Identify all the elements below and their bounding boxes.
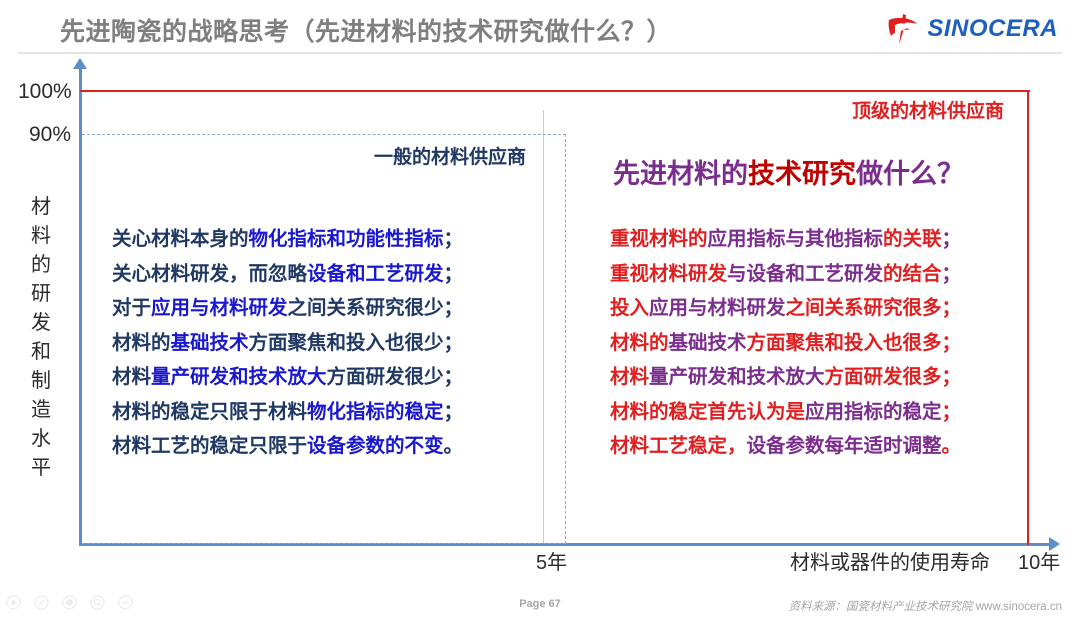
threshold-line-100-percent — [80, 90, 1030, 92]
emphasis-run: 应用指标的稳定 — [805, 401, 942, 423]
top-supplier-text-block: 重视材料的应用指标与其他指标的关联；重视材料研发与设备和工艺研发的结合；投入应用… — [610, 222, 961, 464]
text-run: 材料 — [112, 366, 151, 388]
text-line: 材料的稳定首先认为是应用指标的稳定； — [610, 395, 961, 430]
emphasis-run: 基础技术 — [171, 332, 249, 354]
header-divider — [18, 52, 1062, 54]
headline-run: 先进材料的 — [613, 159, 748, 189]
emphasis-run: 量产研发和技术放大 — [649, 366, 825, 388]
emphasis-run: 应用与材料研发 — [151, 297, 288, 319]
text-line: 材料的基础技术方面聚焦和投入也很多； — [610, 326, 961, 361]
text-run: 投入 — [610, 297, 649, 319]
source-note: 资料来源：国瓷材料产业技术研究院 www.sinocera.cn — [789, 598, 1063, 614]
text-run: 材料的 — [610, 332, 669, 354]
text-run: 材料工艺稳定， — [610, 435, 747, 457]
y-tick-label-100: 100% — [18, 80, 72, 104]
text-run: 方面研发很多； — [825, 366, 962, 388]
emphasis-run: ； — [942, 228, 962, 250]
text-run: 材料的稳定首先认为是 — [610, 401, 805, 423]
emphasis-run: 与设备和工艺研发 — [727, 263, 883, 285]
source-note-text: 资料来源：国瓷材料产业技术研究院 — [789, 601, 973, 613]
x-axis-title: 材料或器件的使用寿命 — [790, 546, 990, 575]
text-run: 重视材料研发 — [610, 263, 727, 285]
text-run: 。 — [942, 435, 962, 457]
x-tick-label-5-years: 5年 — [536, 546, 567, 575]
emphasis-run: 基础技术 — [669, 332, 747, 354]
text-run: 关心材料本身的 — [112, 228, 249, 250]
emphasis-run: 设备和工艺研发 — [307, 263, 444, 285]
text-run: ； — [444, 401, 464, 423]
text-run: 之间关系研究很多； — [786, 297, 962, 319]
top-supplier-label: 顶级的材料供应商 — [852, 96, 1004, 123]
text-run: ； — [444, 263, 464, 285]
text-line: 材料工艺的稳定只限于设备参数的不变。 — [112, 429, 463, 464]
text-line: 材料量产研发和技术放大方面研发很多； — [610, 360, 961, 395]
text-run: 的关联 — [883, 228, 942, 250]
page-title: 先进陶瓷的战略思考（先进材料的技术研究做什么？） — [60, 12, 672, 48]
sinocera-swoosh-logo-icon — [886, 13, 920, 45]
emphasis-run: 应用与材料研发 — [649, 297, 786, 319]
text-run: 材料的 — [112, 332, 171, 354]
text-line: 关心材料研发，而忽略设备和工艺研发； — [112, 257, 463, 292]
text-line: 关心材料本身的物化指标和功能性指标； — [112, 222, 463, 257]
text-run: 关心材料研发，而忽略 — [112, 263, 307, 285]
text-line: 材料的稳定只限于材料物化指标的稳定； — [112, 395, 463, 430]
emphasis-run: 物化指标和功能性指标 — [249, 228, 444, 250]
emphasis-run: 设备参数每年适时调整 — [747, 435, 942, 457]
emphasis-run: 应用指标与其他指标 — [708, 228, 884, 250]
text-line: 重视材料的应用指标与其他指标的关联； — [610, 222, 961, 257]
x-tick-label-10-years: 10年 — [1018, 546, 1060, 575]
emphasis-run: 设备参数的不变 — [307, 435, 444, 457]
brand-logo: SINOCERA — [886, 13, 1058, 45]
text-run: 对于 — [112, 297, 151, 319]
text-line: 对于应用与材料研发之间关系研究很少； — [112, 291, 463, 326]
source-note-url: www.sinocera.cn — [976, 601, 1062, 613]
emphasis-run: ； — [942, 263, 962, 285]
y-tick-label-90: 90% — [29, 123, 71, 147]
text-run: 之间关系研究很少； — [288, 297, 464, 319]
emphasis-run: 量产研发和技术放大 — [151, 366, 327, 388]
text-run: 的结合 — [883, 263, 942, 285]
threshold-line-10-years — [1027, 90, 1029, 544]
generic-supplier-text-block: 关心材料本身的物化指标和功能性指标；关心材料研发，而忽略设备和工艺研发；对于应用… — [112, 222, 463, 464]
text-run: 材料工艺的稳定只限于 — [112, 435, 307, 457]
text-run: 方面研发很少； — [327, 366, 464, 388]
text-run: 。 — [444, 435, 464, 457]
text-run: 材料的稳定只限于材料 — [112, 401, 307, 423]
emphasis-run: 物化指标的稳定 — [307, 401, 444, 423]
generic-supplier-label: 一般的材料供应商 — [374, 142, 526, 169]
text-line: 材料量产研发和技术放大方面研发很少； — [112, 360, 463, 395]
headline-run: 技术研究 — [748, 159, 856, 189]
logo-wordmark: SINOCERA — [927, 15, 1058, 43]
text-line: 投入应用与材料研发之间关系研究很多； — [610, 291, 961, 326]
text-line: 材料的基础技术方面聚焦和投入也很少； — [112, 326, 463, 361]
text-run: ； — [942, 401, 962, 423]
text-line: 重视材料研发与设备和工艺研发的结合； — [610, 257, 961, 292]
text-run: ； — [444, 228, 464, 250]
y-axis-title: 材料的研发和制造水平 — [24, 193, 58, 483]
text-run: 材料 — [610, 366, 649, 388]
text-run: 方面聚焦和投入也很少； — [249, 332, 464, 354]
text-run: 重视材料的 — [610, 228, 708, 250]
text-run: 方面聚焦和投入也很多； — [747, 332, 962, 354]
right-headline: 先进材料的技术研究做什么？ — [613, 152, 964, 191]
slide-canvas: 先进陶瓷的战略思考（先进材料的技术研究做什么？） SINOCERA 100% 9… — [0, 0, 1080, 617]
text-line: 材料工艺稳定，设备参数每年适时调整。 — [610, 429, 961, 464]
slide-header: 先进陶瓷的战略思考（先进材料的技术研究做什么？） SINOCERA — [0, 0, 1080, 55]
headline-run: 做什么？ — [856, 159, 964, 189]
